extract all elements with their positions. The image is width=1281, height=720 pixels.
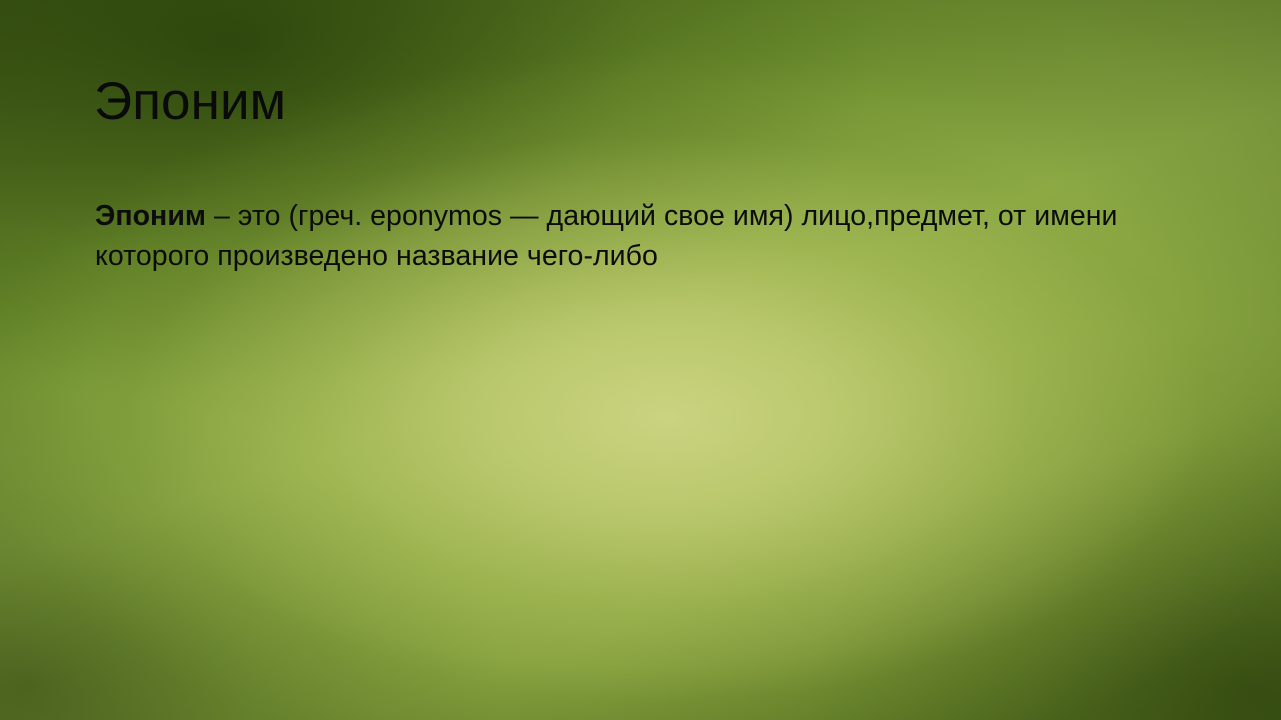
presentation-slide: Эпоним Эпоним – это (греч. eponymos — да… [0,0,1281,720]
body-lead-term: Эпоним [95,200,206,232]
slide-content: Эпоним Эпоним – это (греч. eponymos — да… [0,0,1281,720]
slide-body-text: Эпоним – это (греч. eponymos — дающий св… [95,196,1190,277]
body-definition-text: – это (греч. eponymos — дающий свое имя)… [95,200,1118,272]
slide-title: Эпоним [94,72,1184,131]
